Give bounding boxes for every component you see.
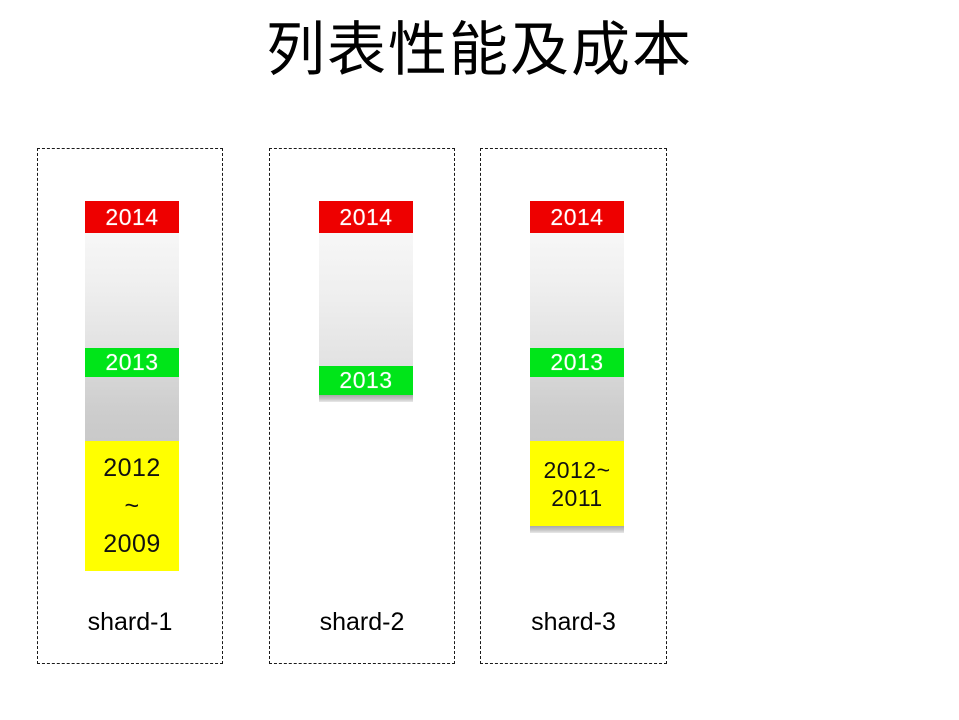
shard-2-hot-2014-label: 2014 bbox=[319, 204, 413, 231]
shard-2-caption: shard-2 bbox=[270, 607, 454, 637]
shard-1-warm-2013-label: 2013 bbox=[85, 349, 179, 376]
shard-3-segment-warm-2013: 2013 bbox=[530, 348, 624, 377]
shard-1-segment-stack: 201420132012 ~ 2009 bbox=[85, 201, 179, 571]
shard-2-segment-hot-2014: 2014 bbox=[319, 201, 413, 233]
shard-3-segment-archive: 2012~ 2011 bbox=[530, 441, 624, 526]
shard-1-archive-label: 2012 ~ 2009 bbox=[85, 449, 179, 563]
shard-1-segment-spacer-upper bbox=[85, 233, 179, 348]
shard-1-segment-hot-2014: 2014 bbox=[85, 201, 179, 233]
shard-3-segment-stack: 201420132012~ 2011 bbox=[530, 201, 624, 533]
shard-2-segment-base-shadow bbox=[319, 395, 413, 402]
shard-3-warm-2013-label: 2013 bbox=[530, 349, 624, 376]
shard-3-segment-spacer-upper bbox=[530, 233, 624, 348]
shard-2-segment-stack: 20142013 bbox=[319, 201, 413, 402]
shard-3-segment-base-shadow bbox=[530, 526, 624, 533]
shard-2-segment-warm-2013: 2013 bbox=[319, 366, 413, 395]
shard-1-caption: shard-1 bbox=[38, 607, 222, 637]
shard-2-segment-spacer-upper bbox=[319, 233, 413, 366]
shard-3-segment-spacer-lower bbox=[530, 377, 624, 441]
shard-3-archive-label: 2012~ 2011 bbox=[530, 456, 624, 512]
shard-box-2: 20142013 shard-2 bbox=[269, 148, 455, 664]
shard-3-segment-hot-2014: 2014 bbox=[530, 201, 624, 233]
shard-1-segment-warm-2013: 2013 bbox=[85, 348, 179, 377]
shard-diagram: 201420132012 ~ 2009 shard-1 20142013 sha… bbox=[0, 0, 959, 720]
shard-box-1: 201420132012 ~ 2009 shard-1 bbox=[37, 148, 223, 664]
shard-box-3: 201420132012~ 2011 shard-3 bbox=[480, 148, 667, 664]
shard-2-warm-2013-label: 2013 bbox=[319, 367, 413, 394]
shard-1-hot-2014-label: 2014 bbox=[85, 204, 179, 231]
shard-3-caption: shard-3 bbox=[481, 607, 666, 637]
shard-1-segment-spacer-lower bbox=[85, 377, 179, 441]
shard-3-hot-2014-label: 2014 bbox=[530, 204, 624, 231]
shard-1-segment-archive: 2012 ~ 2009 bbox=[85, 441, 179, 571]
